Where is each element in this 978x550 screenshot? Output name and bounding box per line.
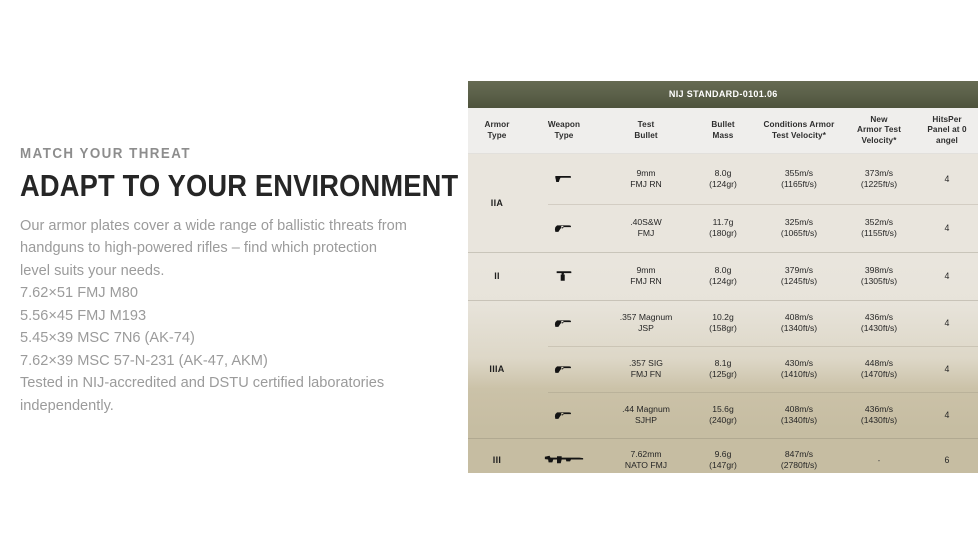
new-armor-test-velocity-cell-secondary: (1305ft/s) — [842, 276, 916, 287]
conditions-armor-test-velocity-cell-primary: 379m/s — [756, 265, 842, 276]
promo-paragraph-line: 5.56×45 FMJ M193 — [20, 305, 420, 328]
column-header-line: Armor Test — [842, 125, 916, 136]
conditions-armor-test-velocity-cell-secondary: (1245ft/s) — [756, 276, 842, 287]
promo-paragraph: Our armor plates cover a wide range of b… — [20, 215, 420, 418]
table-row: 9mmFMJ RN8.0g(124gr)355m/s(1165ft/s)373m… — [526, 154, 978, 204]
new-armor-test-velocity-cell-secondary: (1470ft/s) — [842, 369, 916, 380]
table-row: .40S&WFMJ11.7g(180gr)325m/s(1065ft/s)352… — [526, 204, 978, 252]
conditions-armor-test-velocity-cell-secondary: (1065ft/s) — [756, 228, 842, 239]
test-bullet-cell-secondary: NATO FMJ — [602, 460, 690, 471]
new-armor-test-velocity-cell-primary: 448m/s — [842, 358, 916, 369]
hits-per-panel-cell: 6 — [916, 455, 978, 466]
test-bullet-cell-secondary: FMJ RN — [602, 276, 690, 287]
conditions-armor-test-velocity-cell: 355m/s(1165ft/s) — [756, 168, 842, 190]
bullet-mass-cell-secondary: (147gr) — [690, 460, 756, 471]
column-header-line: Mass — [690, 131, 756, 142]
armor-type-label-cell: III — [468, 438, 526, 473]
column-header-3: TestBullet — [602, 120, 690, 141]
conditions-armor-test-velocity-cell-secondary: (1340ft/s) — [756, 323, 842, 334]
conditions-armor-test-velocity-cell: 847m/s(2780ft/s) — [756, 449, 842, 471]
promo-paragraph-line: Tested in NIJ-accredited and DSTU certif… — [20, 372, 420, 395]
column-header-4: BulletMass — [690, 120, 756, 141]
bullet-mass-cell-primary: 15.6g — [690, 404, 756, 415]
bullet-mass-cell: 8.1g(125gr) — [690, 358, 756, 380]
new-armor-test-velocity-cell-primary: 373m/s — [842, 168, 916, 179]
standard-title: NIJ STANDARD-0101.06 — [669, 89, 778, 100]
armor-type-group-ii: II9mmFMJ RN8.0g(124gr)379m/s(1245ft/s)39… — [468, 252, 978, 300]
new-armor-test-velocity-cell-secondary: (1430ft/s) — [842, 323, 916, 334]
conditions-armor-test-velocity-cell-secondary: (1410ft/s) — [756, 369, 842, 380]
bullet-mass-cell-secondary: (124gr) — [690, 179, 756, 190]
column-header-line: Bullet — [602, 131, 690, 142]
table-row: 9mmFMJ RN8.0g(124gr)379m/s(1245ft/s)398m… — [526, 252, 978, 300]
test-bullet-cell-secondary: FMJ — [602, 228, 690, 239]
promo-paragraph-line: Our armor plates cover a wide range of b… — [20, 215, 420, 238]
conditions-armor-test-velocity-cell-primary: 355m/s — [756, 168, 842, 179]
armor-type-rows: .357 MagnumJSP10.2g(158gr)408m/s(1340ft/… — [526, 300, 978, 438]
bullet-mass-cell-secondary: (240gr) — [690, 415, 756, 426]
bullet-mass-cell: 15.6g(240gr) — [690, 404, 756, 426]
conditions-armor-test-velocity-cell-primary: 408m/s — [756, 312, 842, 323]
promo-paragraph-line: handguns to high-powered rifles – find w… — [20, 237, 420, 260]
test-bullet-cell: 9mmFMJ RN — [602, 168, 690, 190]
conditions-armor-test-velocity-cell: 408m/s(1340ft/s) — [756, 312, 842, 334]
promo-paragraph-line: 7.62×51 FMJ M80 — [20, 282, 420, 305]
table-body: IIA9mmFMJ RN8.0g(124gr)355m/s(1165ft/s)3… — [468, 154, 978, 473]
test-bullet-cell: .357 MagnumJSP — [602, 312, 690, 334]
conditions-armor-test-velocity-cell: 408m/s(1340ft/s) — [756, 404, 842, 426]
bullet-mass-cell-primary: 8.1g — [690, 358, 756, 369]
armor-type-label: IIIA — [489, 364, 504, 374]
conditions-armor-test-velocity-cell: 379m/s(1245ft/s) — [756, 265, 842, 287]
hits-per-panel-cell: 4 — [916, 271, 978, 282]
test-bullet-cell-primary: .357 SIG — [602, 358, 690, 369]
bullet-mass-cell-secondary: (180gr) — [690, 228, 756, 239]
column-header-line: Weapon — [526, 120, 602, 131]
new-armor-test-velocity-cell-primary: - — [842, 455, 916, 466]
test-bullet-cell-primary: .357 Magnum — [602, 312, 690, 323]
bullet-mass-cell-secondary: (158gr) — [690, 323, 756, 334]
hits-per-panel-cell: 4 — [916, 223, 978, 234]
weapon-type-cell — [526, 173, 602, 185]
armor-type-rows: 9mmFMJ RN8.0g(124gr)355m/s(1165ft/s)373m… — [526, 154, 978, 252]
armor-type-rows: 9mmFMJ RN8.0g(124gr)379m/s(1245ft/s)398m… — [526, 252, 978, 300]
table-row: 7.62mmNATO FMJ9.6g(147gr)847m/s(2780ft/s… — [526, 438, 978, 473]
new-armor-test-velocity-cell-secondary: (1225ft/s) — [842, 179, 916, 190]
column-header-line: Panel at 0 angel — [916, 125, 978, 146]
new-armor-test-velocity-cell: 448m/s(1470ft/s) — [842, 358, 916, 380]
bullet-mass-cell-primary: 8.0g — [690, 168, 756, 179]
armor-type-group-iiia: IIIA.357 MagnumJSP10.2g(158gr)408m/s(134… — [468, 300, 978, 438]
test-bullet-cell-primary: .40S&W — [602, 217, 690, 228]
conditions-armor-test-velocity-cell-primary: 430m/s — [756, 358, 842, 369]
new-armor-test-velocity-cell-secondary: (1430ft/s) — [842, 415, 916, 426]
test-bullet-cell-primary: .44 Magnum — [602, 404, 690, 415]
armor-type-label-cell: II — [468, 252, 526, 300]
new-armor-test-velocity-cell: 373m/s(1225ft/s) — [842, 168, 916, 190]
column-header-line: Test — [602, 120, 690, 131]
promo-paragraph-line: independently. — [20, 395, 420, 418]
bullet-mass-cell-primary: 10.2g — [690, 312, 756, 323]
semi-auto-pistol-icon — [551, 173, 577, 185]
promo-copy-block: MATCH YOUR THREAT ADAPT TO YOUR ENVIRONM… — [20, 146, 420, 417]
armor-type-group-iii: III7.62mmNATO FMJ9.6g(147gr)847m/s(2780f… — [468, 438, 978, 473]
weapon-type-cell — [526, 363, 602, 375]
weapon-type-cell — [526, 222, 602, 234]
bullet-mass-cell-primary: 11.7g — [690, 217, 756, 228]
conditions-armor-test-velocity-cell-secondary: (2780ft/s) — [756, 460, 842, 471]
bullet-mass-cell: 9.6g(147gr) — [690, 449, 756, 471]
test-bullet-cell: 7.62mmNATO FMJ — [602, 449, 690, 471]
column-header-line: Test Velocity* — [756, 131, 842, 142]
test-bullet-cell: .357 SIGFMJ FN — [602, 358, 690, 380]
conditions-armor-test-velocity-cell-secondary: (1165ft/s) — [756, 179, 842, 190]
test-bullet-cell: .44 MagnumSJHP — [602, 404, 690, 426]
new-armor-test-velocity-cell-secondary: (1155ft/s) — [842, 228, 916, 239]
bullet-mass-cell-secondary: (124gr) — [690, 276, 756, 287]
new-armor-test-velocity-cell-primary: 436m/s — [842, 404, 916, 415]
conditions-armor-test-velocity-cell-primary: 325m/s — [756, 217, 842, 228]
promo-paragraph-line: 5.45×39 MSC 7N6 (AK-74) — [20, 327, 420, 350]
armor-type-label: II — [494, 271, 500, 281]
revolver-icon — [551, 317, 577, 329]
new-armor-test-velocity-cell: 436m/s(1430ft/s) — [842, 404, 916, 426]
weapon-type-cell — [526, 409, 602, 421]
column-header-line: New — [842, 115, 916, 126]
bullet-mass-cell: 8.0g(124gr) — [690, 168, 756, 190]
test-bullet-cell: 9mmFMJ RN — [602, 265, 690, 287]
column-header-line: Armor — [468, 120, 526, 131]
column-header-line: Type — [468, 131, 526, 142]
table-column-header-row: ArmorTypeWeaponTypeTestBulletBulletMassC… — [468, 108, 978, 154]
conditions-armor-test-velocity-cell: 430m/s(1410ft/s) — [756, 358, 842, 380]
column-header-7: HitsPerPanel at 0 angel — [916, 115, 978, 147]
bullet-mass-cell-secondary: (125gr) — [690, 369, 756, 380]
hits-per-panel-cell: 4 — [916, 174, 978, 185]
table-row: .44 MagnumSJHP15.6g(240gr)408m/s(1340ft/… — [526, 392, 978, 438]
conditions-armor-test-velocity-cell-primary: 408m/s — [756, 404, 842, 415]
column-header-2: WeaponType — [526, 120, 602, 141]
test-bullet-cell: .40S&WFMJ — [602, 217, 690, 239]
bullet-mass-cell-primary: 8.0g — [690, 265, 756, 276]
armor-type-group-iia: IIA9mmFMJ RN8.0g(124gr)355m/s(1165ft/s)3… — [468, 154, 978, 252]
column-header-line: Velocity* — [842, 136, 916, 147]
bullet-mass-cell: 8.0g(124gr) — [690, 265, 756, 287]
hits-per-panel-cell: 4 — [916, 364, 978, 375]
weapon-type-cell — [526, 453, 602, 467]
new-armor-test-velocity-cell-primary: 352m/s — [842, 217, 916, 228]
revolver-icon — [551, 363, 577, 375]
column-header-line: Bullet — [690, 120, 756, 131]
armor-type-rows: 7.62mmNATO FMJ9.6g(147gr)847m/s(2780ft/s… — [526, 438, 978, 473]
table-row: .357 MagnumJSP10.2g(158gr)408m/s(1340ft/… — [526, 300, 978, 346]
test-bullet-cell-secondary: FMJ FN — [602, 369, 690, 380]
conditions-armor-test-velocity-cell-secondary: (1340ft/s) — [756, 415, 842, 426]
conditions-armor-test-velocity-cell: 325m/s(1065ft/s) — [756, 217, 842, 239]
new-armor-test-velocity-cell: 436m/s(1430ft/s) — [842, 312, 916, 334]
submachine-gun-icon — [553, 269, 575, 283]
column-header-line: Type — [526, 131, 602, 142]
armor-type-label-cell: IIIA — [468, 300, 526, 438]
armor-type-label-cell: IIA — [468, 154, 526, 252]
nij-standard-table: NIJ STANDARD-0101.06 ArmorTypeWeaponType… — [468, 81, 978, 473]
standard-title-bar: NIJ STANDARD-0101.06 — [468, 81, 978, 108]
promo-paragraph-line: 7.62×39 MSC 57-N-231 (AK-47, AKM) — [20, 350, 420, 373]
test-bullet-cell-primary: 7.62mm — [602, 449, 690, 460]
bullet-mass-cell-primary: 9.6g — [690, 449, 756, 460]
promo-paragraph-line: level suits your needs. — [20, 260, 420, 283]
armor-type-label: IIA — [491, 198, 503, 208]
hits-per-panel-cell: 4 — [916, 410, 978, 421]
bullet-mass-cell: 10.2g(158gr) — [690, 312, 756, 334]
new-armor-test-velocity-cell: 398m/s(1305ft/s) — [842, 265, 916, 287]
test-bullet-cell-secondary: JSP — [602, 323, 690, 334]
conditions-armor-test-velocity-cell-primary: 847m/s — [756, 449, 842, 460]
promo-eyebrow: MATCH YOUR THREAT — [20, 146, 388, 163]
new-armor-test-velocity-cell-primary: 436m/s — [842, 312, 916, 323]
new-armor-test-velocity-cell: 352m/s(1155ft/s) — [842, 217, 916, 239]
weapon-type-cell — [526, 269, 602, 283]
promo-headline: ADAPT TO YOUR ENVIRONMENT — [20, 170, 372, 203]
column-header-line: Conditions Armor — [756, 120, 842, 131]
revolver-icon — [551, 222, 577, 234]
bullet-mass-cell: 11.7g(180gr) — [690, 217, 756, 239]
weapon-type-cell — [526, 317, 602, 329]
test-bullet-cell-primary: 9mm — [602, 265, 690, 276]
test-bullet-cell-secondary: SJHP — [602, 415, 690, 426]
column-header-5: Conditions ArmorTest Velocity* — [756, 120, 842, 141]
new-armor-test-velocity-cell: - — [842, 455, 916, 466]
hits-per-panel-cell: 4 — [916, 318, 978, 329]
table-row: .357 SIGFMJ FN8.1g(125gr)430m/s(1410ft/s… — [526, 346, 978, 392]
new-armor-test-velocity-cell-primary: 398m/s — [842, 265, 916, 276]
column-header-6: NewArmor TestVelocity* — [842, 115, 916, 147]
assault-rifle-icon — [543, 453, 585, 467]
revolver-icon — [551, 409, 577, 421]
armor-type-label: III — [493, 455, 501, 465]
test-bullet-cell-primary: 9mm — [602, 168, 690, 179]
test-bullet-cell-secondary: FMJ RN — [602, 179, 690, 190]
column-header-line: HitsPer — [916, 115, 978, 126]
column-header-1: ArmorType — [468, 120, 526, 141]
